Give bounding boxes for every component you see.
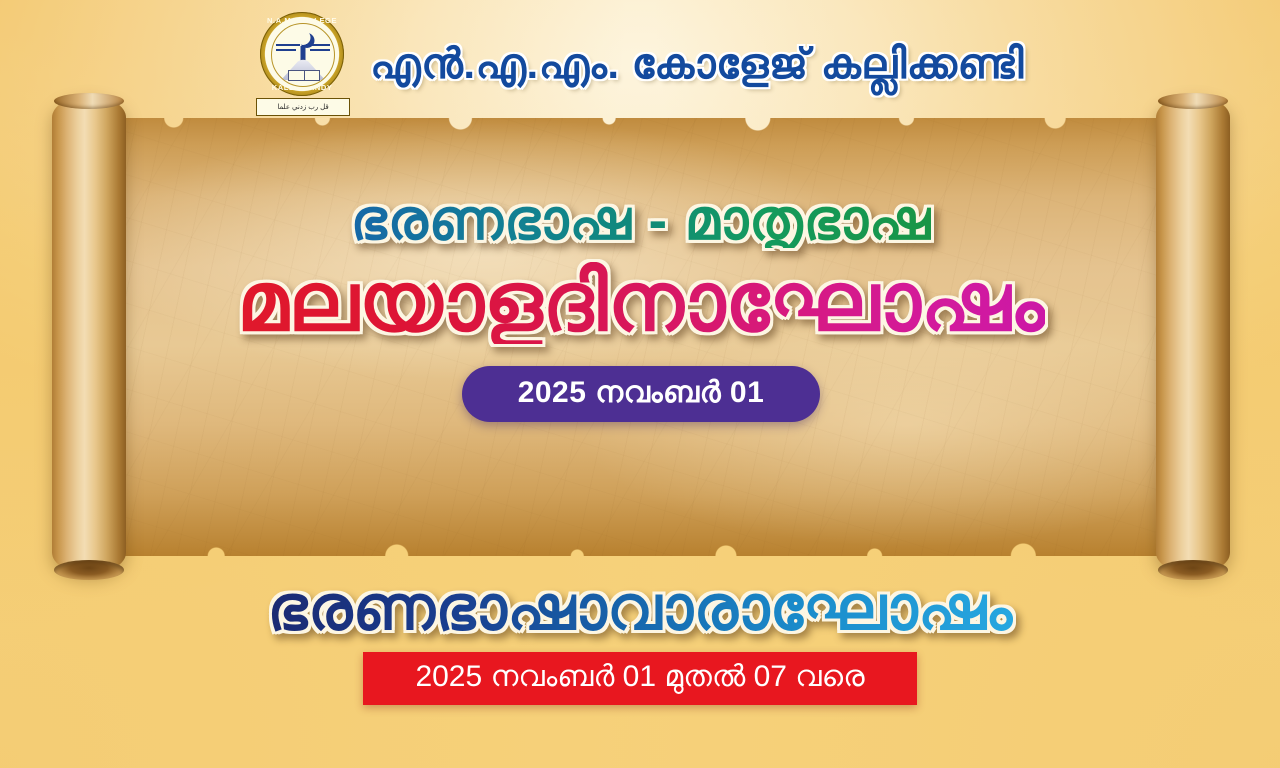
seal-emblem [271, 23, 335, 87]
college-seal-logo-icon: N.A.M. COLLEGE KALLIKKANDY [260, 12, 344, 96]
poster-footer: ഭരണഭാഷാവാരാഘോഷം 2025 നവംബർ 01 മുതൽ 07 വര… [0, 578, 1280, 705]
scroll-content: ഭരണഭാഷ - മാതൃഭാഷ മലയാളദിനാഘോഷം 2025 നവംബ… [52, 96, 1230, 574]
scroll-main-title: മലയാളദിനാഘോഷം [237, 262, 1045, 344]
college-name-heading: എൻ.എ.എം. കോളേജ് കല്ലിക്കണ്ടി [370, 43, 1024, 85]
book-icon [288, 70, 320, 81]
scroll-subtitle: ഭരണഭാഷ - മാതൃഭാഷ [351, 192, 932, 248]
event-date-badge: 2025 നവംബർ 01 [462, 366, 821, 422]
crescent-icon [296, 30, 311, 45]
poster-canvas: N.A.M. COLLEGE KALLIKKANDY قل رب زدني عل… [0, 0, 1280, 768]
week-date-range-bar: 2025 നവംബർ 01 മുതൽ 07 വരെ [363, 652, 916, 705]
week-celebration-title: ഭരണഭാഷാവാരാഘോഷം [267, 578, 1012, 640]
